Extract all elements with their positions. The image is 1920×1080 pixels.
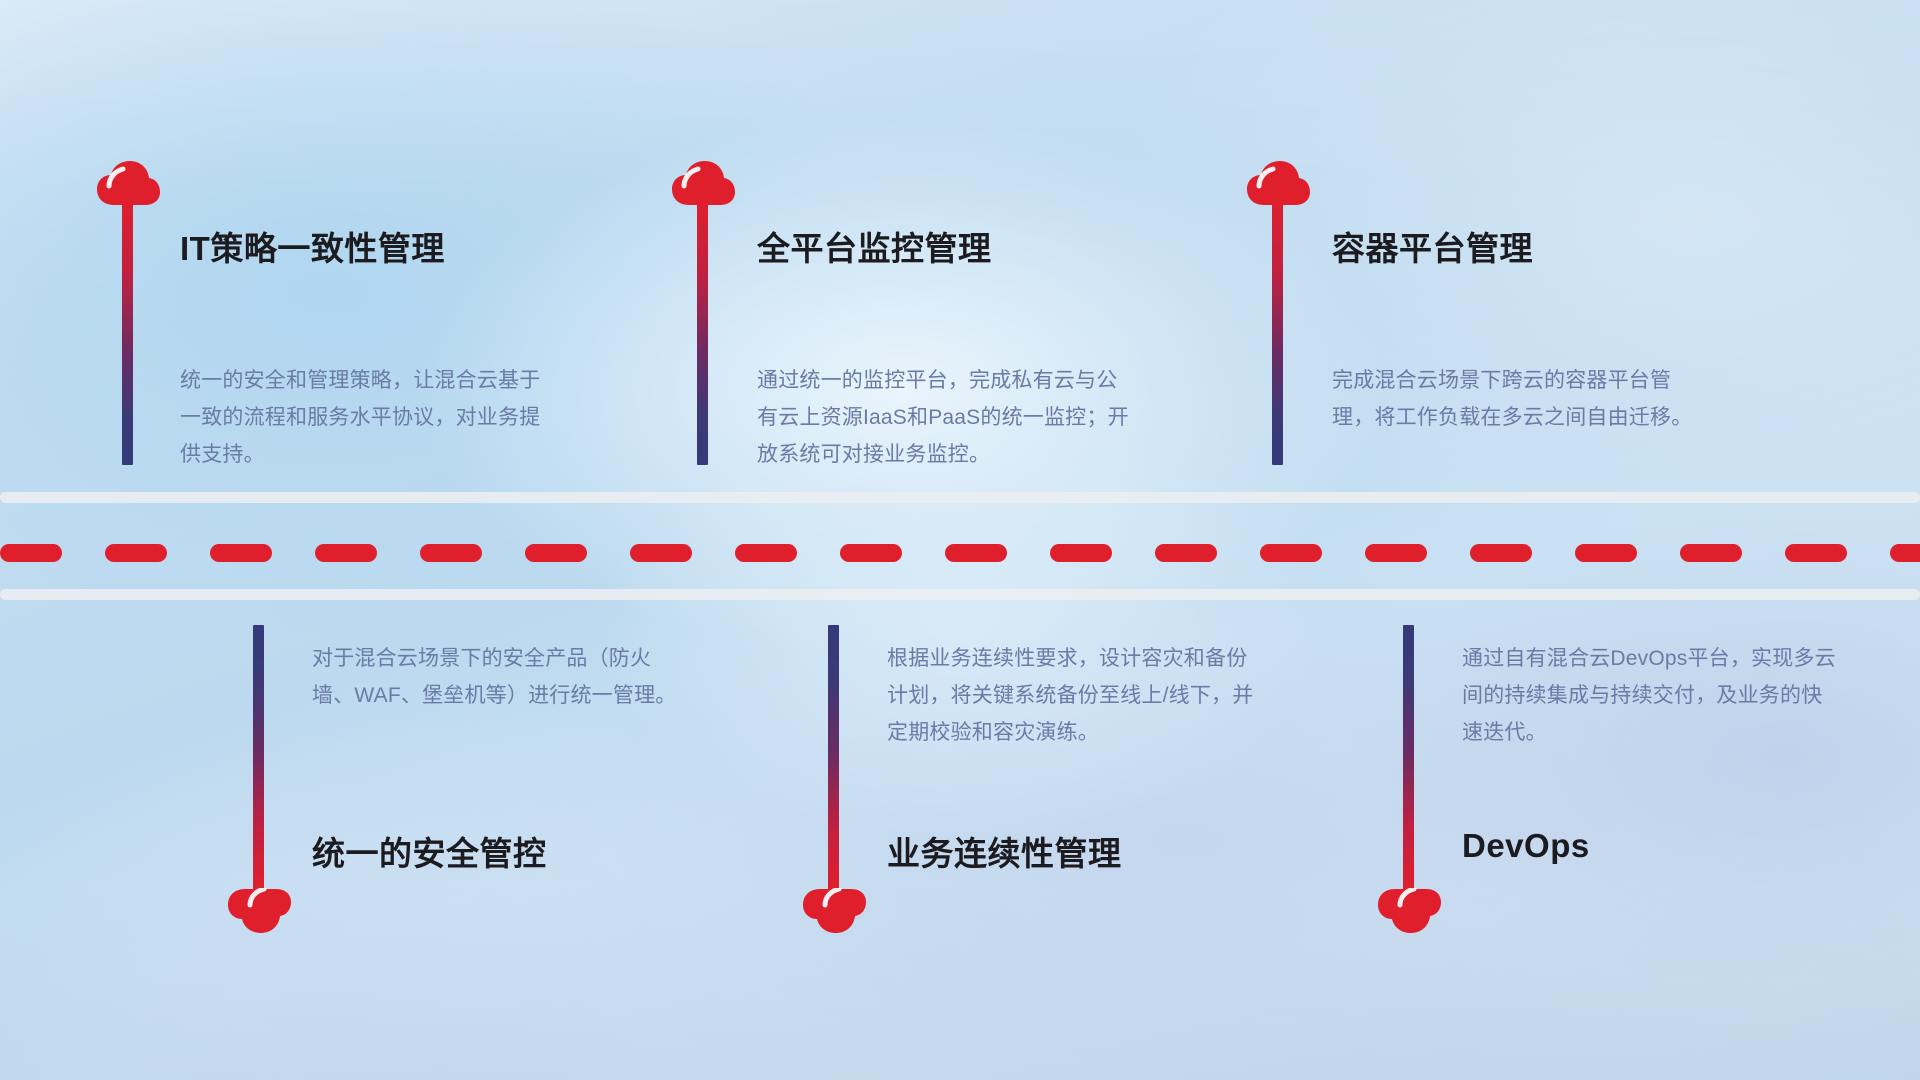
connector-bar <box>1403 625 1414 890</box>
infographic-canvas: IT策略一致性管理 统一的安全和管理策略，让混合云基于一致的流程和服务水平协议，… <box>0 0 1920 1080</box>
feature-description: 统一的安全和管理策略，让混合云基于一致的流程和服务水平协议，对业务提供支持。 <box>180 362 555 473</box>
dash-segment <box>1785 544 1847 562</box>
connector-bar <box>697 200 708 465</box>
dash-segment <box>420 544 482 562</box>
feature-description: 根据业务连续性要求，设计容灾和备份计划，将关键系统备份至线上/线下，并定期校验和… <box>887 640 1262 751</box>
feature-title: 统一的安全管控 <box>312 827 547 875</box>
cloud-icon <box>1376 888 1442 934</box>
dash-segment <box>0 544 62 562</box>
feature-title: DevOps <box>1462 827 1590 865</box>
connector-bar <box>253 625 264 890</box>
dash-segment <box>945 544 1007 562</box>
dash-segment <box>1575 544 1637 562</box>
dash-segment <box>840 544 902 562</box>
dash-segment <box>315 544 377 562</box>
connector-bar <box>1272 200 1283 465</box>
cloud-icon <box>801 888 867 934</box>
feature-title: 全平台监控管理 <box>757 222 992 270</box>
dash-segment <box>105 544 167 562</box>
connector-bar <box>828 625 839 890</box>
feature-description: 通过统一的监控平台，完成私有云与公有云上资源IaaS和PaaS的统一监控；开放系… <box>757 362 1132 473</box>
dashed-separator <box>0 542 1920 564</box>
dash-segment <box>1260 544 1322 562</box>
dash-segment <box>1680 544 1742 562</box>
connector-bar <box>122 200 133 465</box>
feature-description: 通过自有混合云DevOps平台，实现多云间的持续集成与持续交付，及业务的快速迭代… <box>1462 640 1837 751</box>
dash-segment <box>1365 544 1427 562</box>
feature-title: 业务连续性管理 <box>887 827 1122 875</box>
dash-segment <box>1050 544 1112 562</box>
dash-segment <box>1155 544 1217 562</box>
feature-title: 容器平台管理 <box>1332 222 1533 270</box>
feature-title: IT策略一致性管理 <box>180 222 445 270</box>
dash-segment <box>525 544 587 562</box>
feature-description: 完成混合云场景下跨云的容器平台管理，将工作负载在多云之间自由迁移。 <box>1332 362 1707 436</box>
dash-segment <box>630 544 692 562</box>
dash-segment <box>1470 544 1532 562</box>
divider-band-top <box>0 492 1920 503</box>
dash-segment <box>210 544 272 562</box>
feature-description: 对于混合云场景下的安全产品（防火墙、WAF、堡垒机等）进行统一管理。 <box>312 640 687 714</box>
divider-band-bottom <box>0 589 1920 600</box>
cloud-icon <box>226 888 292 934</box>
dash-segment <box>735 544 797 562</box>
dash-segment <box>1890 544 1920 562</box>
